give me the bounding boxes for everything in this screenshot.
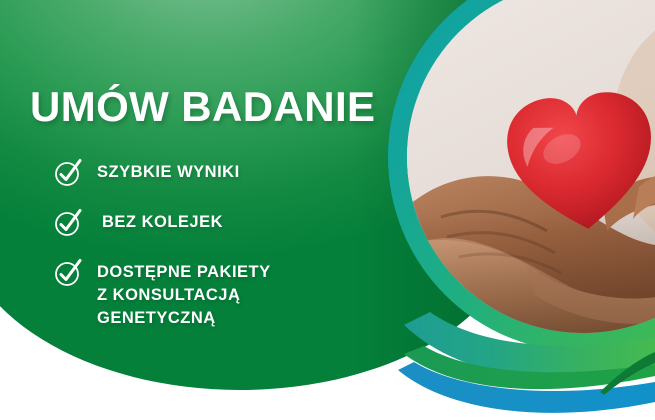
feature-list: SZYBKIE WYNIKI BEZ KOLEJEK DOSTĘPNE PAKI… [54,158,354,330]
check-circle-icon [54,159,82,187]
check-circle-icon [54,209,82,237]
photo-illustration [407,0,655,333]
photo-hands-holding-heart [407,0,655,333]
list-item-label: SZYBKIE WYNIKI [97,158,240,184]
page-title: UMÓW BADANIE [30,83,375,131]
promo-banner: UMÓW BADANIE SZYBKIE WYNIKI BEZ KOLEJEK [0,0,655,420]
list-item: SZYBKIE WYNIKI [54,158,354,187]
swoosh-accent-darkgreen [600,352,655,395]
check-circle-icon [54,259,82,287]
list-item-label: DOSTĘPNE PAKIETY Z KONSULTACJĄ GENETYCZN… [97,258,271,330]
list-item: DOSTĘPNE PAKIETY Z KONSULTACJĄ GENETYCZN… [54,258,354,330]
list-item: BEZ KOLEJEK [54,208,354,237]
list-item-label: BEZ KOLEJEK [97,208,223,234]
